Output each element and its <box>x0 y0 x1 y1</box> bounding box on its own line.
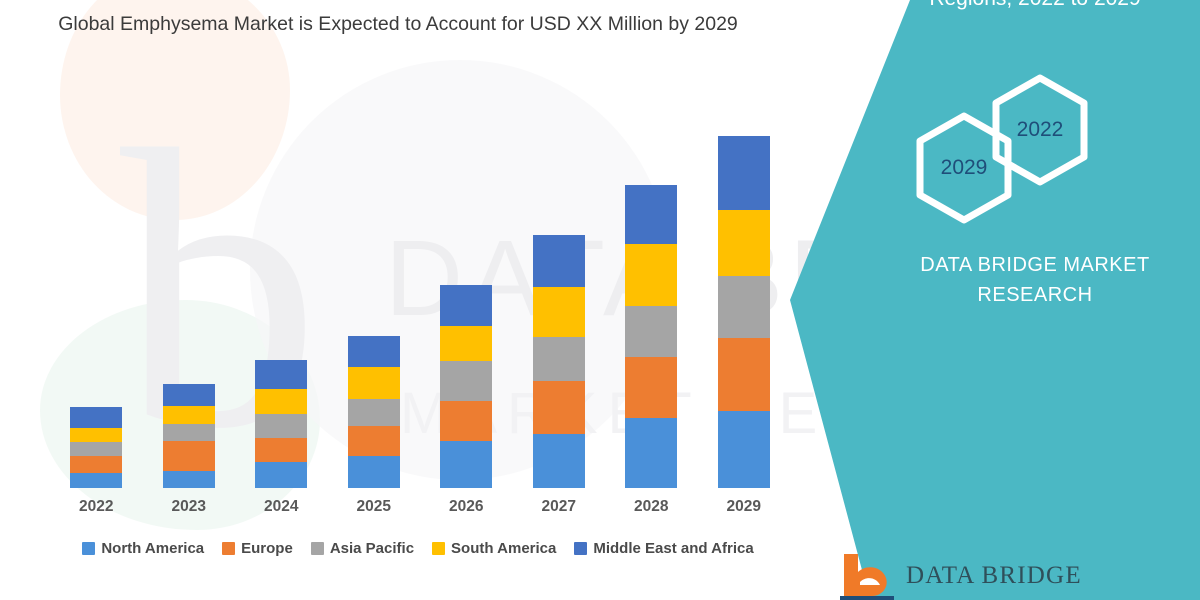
legend-label: Asia Pacific <box>330 540 414 557</box>
bar-segment[interactable] <box>348 426 400 456</box>
panel-title: Regions, 2022 to 2029 <box>870 0 1200 14</box>
bar-column-2027[interactable] <box>533 235 585 488</box>
bar-segment[interactable] <box>625 306 677 357</box>
panel-brand-line-2: RESEARCH <box>870 280 1200 310</box>
legend-label: Europe <box>241 540 293 557</box>
bar-segment[interactable] <box>533 235 585 287</box>
bar-segment[interactable] <box>163 471 215 488</box>
hexagon-badges: 2029 2022 <box>900 86 1170 226</box>
bar-column-2023[interactable] <box>163 384 215 488</box>
bar-column-2024[interactable] <box>255 360 307 488</box>
bar-segment[interactable] <box>70 442 122 456</box>
bar-segment[interactable] <box>625 185 677 244</box>
x-axis-tick-2022: 2022 <box>61 498 131 516</box>
bar-segment[interactable] <box>348 367 400 399</box>
bar-segment[interactable] <box>255 389 307 414</box>
bar-segment[interactable] <box>718 411 770 488</box>
bar-segment[interactable] <box>718 136 770 210</box>
bar-segment[interactable] <box>163 384 215 406</box>
data-bridge-logo-mark-icon <box>840 552 894 600</box>
chart-legend: North AmericaEuropeAsia PacificSouth Ame… <box>48 540 788 557</box>
bar-segment[interactable] <box>440 361 492 401</box>
legend-label: Middle East and Africa <box>593 540 753 557</box>
bar-segment[interactable] <box>533 287 585 337</box>
bar-column-2029[interactable] <box>718 136 770 488</box>
legend-swatch-icon <box>82 542 95 555</box>
bar-segment[interactable] <box>70 428 122 442</box>
bar-column-2026[interactable] <box>440 285 492 488</box>
x-axis-tick-2026: 2026 <box>431 498 501 516</box>
data-bridge-logo: DATA BRIDGE <box>840 552 1082 600</box>
bar-segment[interactable] <box>163 406 215 424</box>
hexagon-badge-2022-label: 2022 <box>988 72 1092 188</box>
panel-content: Regions, 2022 to 2029 2029 2022 DATA BRI… <box>870 0 1200 600</box>
bar-segment[interactable] <box>533 381 585 434</box>
infographic-canvas: b DATA BRIDGE MARKET RESEARCH Global Emp… <box>0 0 1200 600</box>
chart-x-axis: 20222023202420252026202720282029 <box>50 498 790 524</box>
bar-segment[interactable] <box>625 244 677 306</box>
legend-item[interactable]: Europe <box>222 540 293 557</box>
bar-segment[interactable] <box>348 456 400 488</box>
legend-item[interactable]: Middle East and Africa <box>574 540 753 557</box>
chart-title: Global Emphysema Market is Expected to A… <box>48 8 748 41</box>
bar-segment[interactable] <box>348 399 400 426</box>
bar-segment[interactable] <box>70 456 122 473</box>
bar-column-2022[interactable] <box>70 407 122 488</box>
bar-segment[interactable] <box>255 438 307 462</box>
bar-segment[interactable] <box>255 360 307 389</box>
legend-swatch-icon <box>222 542 235 555</box>
x-axis-tick-2029: 2029 <box>709 498 779 516</box>
bar-segment[interactable] <box>70 473 122 488</box>
legend-item[interactable]: North America <box>82 540 204 557</box>
bar-segment[interactable] <box>533 434 585 488</box>
bar-segment[interactable] <box>625 418 677 488</box>
bar-column-2028[interactable] <box>625 185 677 488</box>
legend-label: South America <box>451 540 556 557</box>
bar-segment[interactable] <box>163 424 215 441</box>
x-axis-tick-2027: 2027 <box>524 498 594 516</box>
bar-segment[interactable] <box>440 326 492 361</box>
panel-brand-line-1: DATA BRIDGE MARKET <box>870 250 1200 280</box>
bar-segment[interactable] <box>718 338 770 411</box>
x-axis-tick-2024: 2024 <box>246 498 316 516</box>
x-axis-tick-2025: 2025 <box>339 498 409 516</box>
bar-segment[interactable] <box>625 357 677 418</box>
bar-segment[interactable] <box>440 441 492 488</box>
legend-swatch-icon <box>311 542 324 555</box>
legend-swatch-icon <box>574 542 587 555</box>
bar-segment[interactable] <box>718 210 770 276</box>
x-axis-tick-2028: 2028 <box>616 498 686 516</box>
legend-swatch-icon <box>432 542 445 555</box>
bar-segment[interactable] <box>255 414 307 438</box>
panel-brand-name: DATA BRIDGE MARKET RESEARCH <box>870 250 1200 310</box>
legend-label: North America <box>101 540 204 557</box>
bar-segment[interactable] <box>440 401 492 441</box>
bar-segment[interactable] <box>348 336 400 367</box>
data-bridge-logo-wordmark: DATA BRIDGE <box>906 562 1082 590</box>
chart-plot-area <box>50 110 790 488</box>
bar-segment[interactable] <box>533 337 585 381</box>
legend-item[interactable]: South America <box>432 540 556 557</box>
bar-column-2025[interactable] <box>348 336 400 488</box>
legend-item[interactable]: Asia Pacific <box>311 540 414 557</box>
hexagon-badge-2022: 2022 <box>988 72 1092 188</box>
bar-segment[interactable] <box>70 407 122 428</box>
bar-segment[interactable] <box>255 462 307 488</box>
bar-segment[interactable] <box>440 285 492 326</box>
bar-segment[interactable] <box>163 441 215 471</box>
x-axis-tick-2023: 2023 <box>154 498 224 516</box>
bar-segment[interactable] <box>718 276 770 338</box>
